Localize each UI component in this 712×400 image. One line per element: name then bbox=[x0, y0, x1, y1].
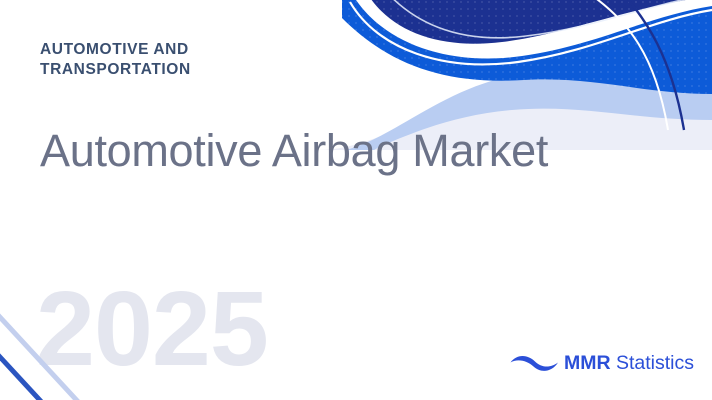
page-title: Automotive Airbag Market bbox=[40, 80, 680, 174]
report-cover: 2025 AUTOMOTIVE AND TRANSPORTATION Autom… bbox=[0, 0, 712, 400]
wave-swoosh-icon bbox=[509, 353, 561, 375]
cover-text-block: AUTOMOTIVE AND TRANSPORTATION Automotive… bbox=[40, 40, 680, 174]
logo-suffix: Statistics bbox=[616, 352, 694, 374]
mmr-statistics-logo[interactable]: MMR Statistics bbox=[509, 353, 694, 375]
category-eyebrow: AUTOMOTIVE AND TRANSPORTATION bbox=[40, 40, 300, 80]
year-watermark: 2025 bbox=[36, 276, 268, 382]
logo-wordmark: MMR Statistics bbox=[564, 354, 694, 374]
wave-layer-navy bbox=[360, 0, 712, 44]
logo-brand: MMR bbox=[564, 352, 611, 374]
wave-accent-line-light bbox=[372, 0, 712, 38]
